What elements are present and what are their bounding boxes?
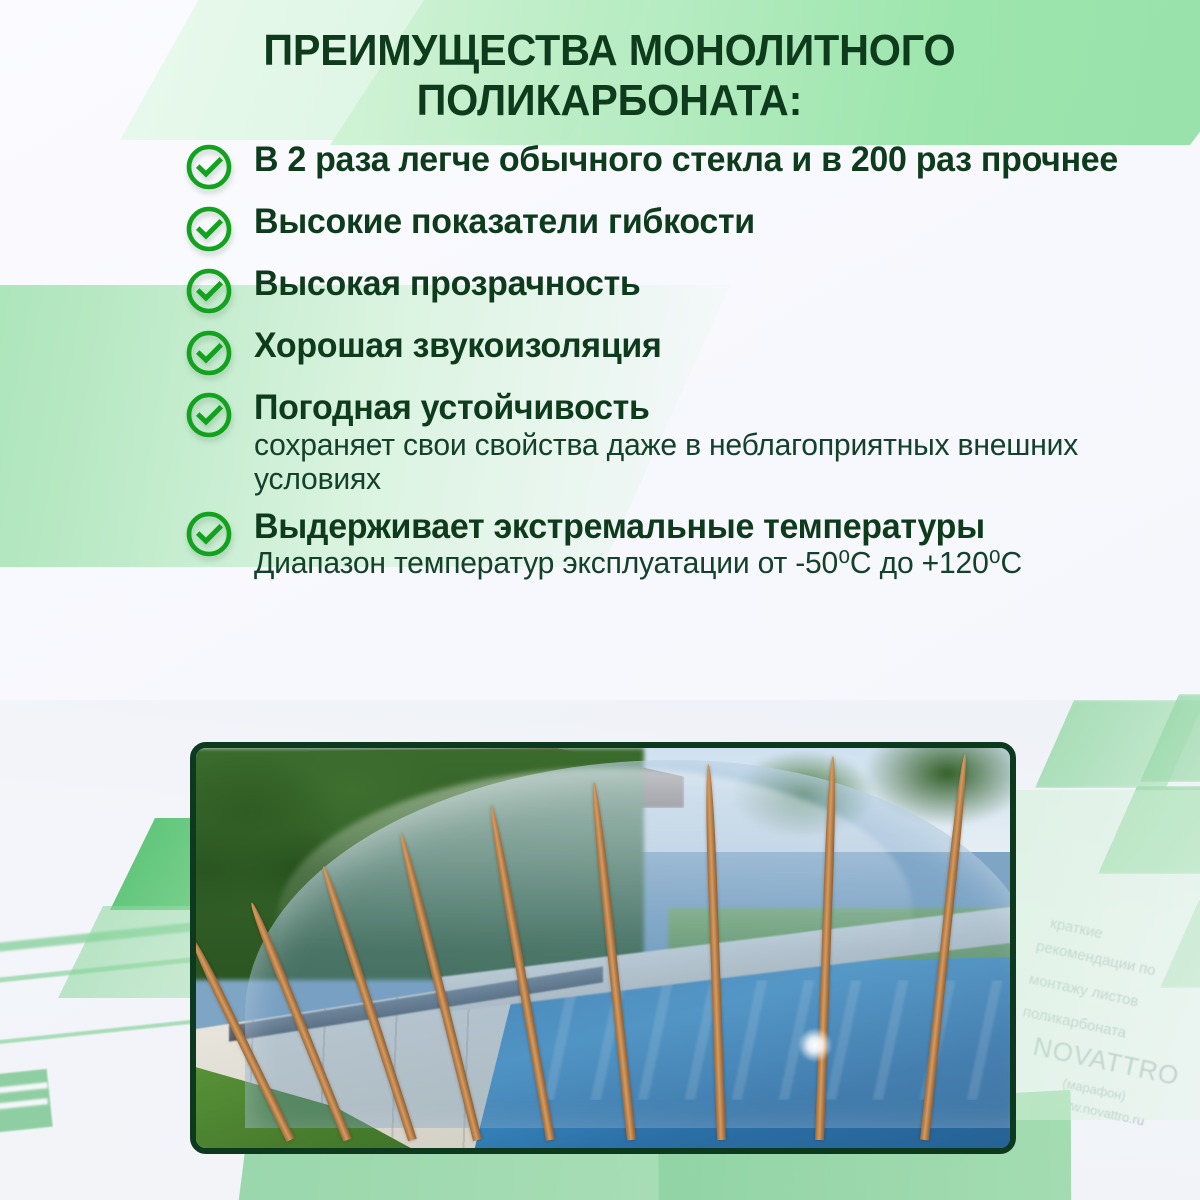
check-circle-icon: [184, 204, 234, 254]
photo-inner: [196, 748, 1010, 1148]
feature-main-text: Хорошая звукоизоляция: [254, 326, 1143, 365]
print-text-url: www.novattro.ru: [1051, 1094, 1145, 1128]
list-item: Высокие показатели гибкости: [178, 202, 1170, 254]
hexagon-br-2: [1140, 694, 1200, 782]
feature-main-text: Погодная устойчивость: [254, 388, 1143, 427]
poster-root: краткие рекомендации по монтажу листов п…: [0, 0, 1200, 1200]
print-barcode-gap-1: [0, 1082, 48, 1100]
list-item: Хорошая звукоизоляция: [178, 326, 1170, 378]
print-stripe-3: [0, 1017, 220, 1047]
check-circle-icon: [184, 328, 234, 378]
print-text-line-4: поликарбоната: [1021, 1003, 1127, 1041]
pool-enclosure-photo: [190, 742, 1016, 1154]
check-circle-icon: [184, 390, 234, 440]
hexagon-br-4: [1160, 900, 1200, 988]
check-circle-icon: [184, 266, 234, 316]
feature-sub-text: Диапазон температур эксплуатации от -50⁰…: [254, 546, 1143, 581]
print-text-line-1: краткие: [1049, 915, 1104, 943]
check-circle-icon: [184, 142, 234, 192]
check-circle-icon: [184, 509, 234, 559]
print-text-line-6: (марафон): [1061, 1075, 1127, 1103]
hexagon-br-3: [1098, 786, 1200, 874]
feature-main-text: Выдерживает экстремальные температуры: [254, 507, 1143, 546]
feature-sub-text: сохраняет свои свойства даже в неблагопр…: [254, 428, 1143, 497]
list-item: Выдерживает экстремальные температуры Ди…: [178, 507, 1170, 581]
list-item: Высокая прозрачность: [178, 264, 1170, 316]
page-title: ПРЕИМУЩЕСТВА МОНОЛИТНОГО ПОЛИКАРБОНАТА:: [36, 0, 1164, 126]
page-title-line-1: ПРЕИМУЩЕСТВА МОНОЛИТНОГО: [263, 26, 955, 75]
feature-main-text: Высокие показатели гибкости: [254, 202, 1143, 241]
poster-content: ПРЕИМУЩЕСТВА МОНОЛИТНОГО ПОЛИКАРБОНАТА: …: [0, 0, 1200, 581]
print-text-brand: NOVATTRO: [1030, 1031, 1182, 1092]
print-barcode-gap-2: [0, 1098, 48, 1116]
hexagon-br-1: [1035, 700, 1200, 788]
page-title-line-2: ПОЛИКАРБОНАТА:: [417, 76, 803, 125]
print-text-line-3: монтажу листов: [1027, 971, 1140, 1011]
features-list: В 2 раза легче обычного стекла и в 200 р…: [0, 140, 1200, 581]
list-item: Погодная устойчивость сохраняет свои сво…: [178, 388, 1170, 497]
print-text-line-2: рекомендации по: [1035, 938, 1158, 980]
list-item: В 2 раза легче обычного стекла и в 200 р…: [178, 140, 1170, 192]
print-barcode: [0, 1069, 53, 1139]
feature-main-text: В 2 раза легче обычного стекла и в 200 р…: [254, 140, 1143, 179]
feature-main-text: Высокая прозрачность: [254, 264, 1143, 303]
